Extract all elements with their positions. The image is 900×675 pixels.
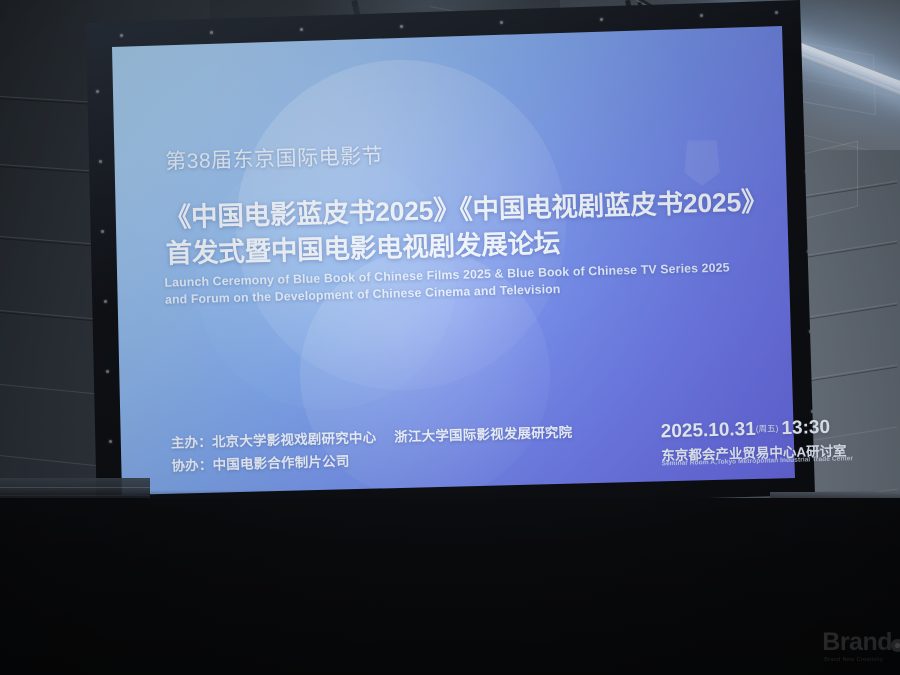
cohost-label: 协办：: [171, 458, 213, 474]
photo-watermark: Brand Brand New Creativity: [822, 630, 900, 663]
host-label: 主办：: [171, 435, 213, 451]
film-reel-icon: [891, 639, 900, 652]
event-datetime: 2025.10.31(周五)13:30: [660, 417, 830, 444]
cohost-org: 中国电影合作制片公司: [212, 454, 349, 473]
cohost-line: 协办：中国电影合作制片公司: [171, 450, 350, 475]
host-org-1: 北京大学影视戏剧研究中心: [212, 430, 377, 449]
photo-watermark-tagline: Brand New Creativity: [824, 657, 900, 663]
stage-skirt: [0, 498, 900, 675]
event-date: 2025.10.31: [660, 419, 756, 443]
photo-watermark-name: Brand: [822, 630, 900, 655]
event-day-of-week: (周五): [756, 423, 779, 434]
host-line: 主办：北京大学影视戏剧研究中心浙江大学国际影视发展研究院: [171, 421, 573, 452]
photo-scene: 第38届东京国际电影节 《中国电影蓝皮书2025》《中国电视剧蓝皮书2025》 …: [0, 0, 900, 675]
host-org-2: 浙江大学国际影视发展研究院: [394, 425, 572, 445]
event-time: 13:30: [781, 417, 830, 439]
festival-name: 第38届东京国际电影节: [165, 140, 384, 176]
